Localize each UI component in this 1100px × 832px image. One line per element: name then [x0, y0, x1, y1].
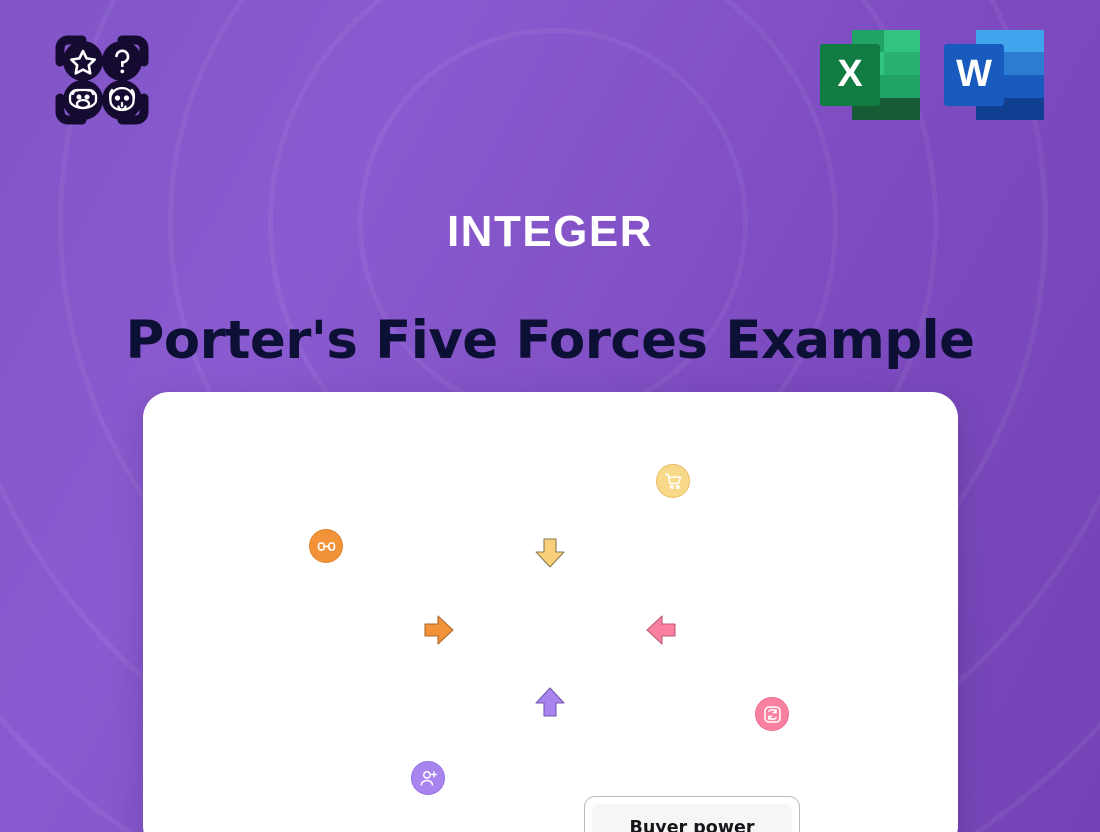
quiz-categories-logo-icon [46, 26, 158, 134]
arrow-substitution-to-rivalry [646, 614, 676, 651]
page-title: Porter's Five Forces Example [0, 310, 1100, 371]
arrow-buyer-to-rivalry [534, 538, 566, 573]
brand-name: INTEGER [0, 207, 1100, 257]
slide-canvas: X W INTEGER Porter's Five Forces Example… [0, 0, 1100, 832]
arrow-supplier-to-rivalry [424, 614, 454, 651]
refresh-sync-icon[interactable] [755, 697, 789, 731]
arrow-entrants-to-rivalry [534, 687, 566, 722]
word-letter: W [956, 53, 992, 95]
add-user-icon[interactable] [411, 761, 445, 795]
microsoft-word-icon: W [942, 28, 1046, 122]
link-chain-icon[interactable] [309, 529, 343, 563]
diagram-card: Buyer power High demand for eco-friendly… [143, 392, 958, 832]
excel-letter: X [837, 53, 863, 95]
force-box-buyer-power[interactable]: Buyer power High demand for eco-friendly… [584, 796, 800, 832]
shopping-cart-icon[interactable] [656, 464, 690, 498]
microsoft-excel-icon: X [818, 28, 922, 122]
force-box-inner: Buyer power High demand for eco-friendly… [592, 804, 792, 832]
force-title-buyer-power: Buyer power [603, 818, 781, 832]
